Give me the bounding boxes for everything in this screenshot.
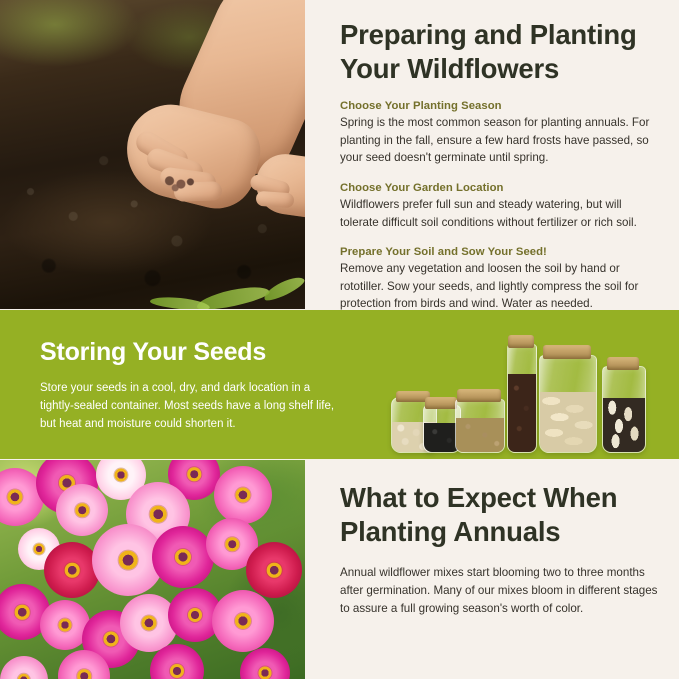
storing-text-column: Storing Your Seeds Store your seeds in a… — [40, 338, 336, 433]
expect-text-column: What to Expect When Planting Annuals Ann… — [340, 481, 662, 618]
seed-jar-tall-dark-seeds — [507, 335, 535, 453]
body-planting-season: Spring is the most common season for pla… — [340, 114, 658, 167]
jar-contents — [603, 398, 645, 452]
planting-block-location: Choose Your Garden Location Wildflowers … — [340, 182, 658, 231]
planting-heading: Preparing and Planting Your Wildflowers — [340, 18, 658, 85]
planting-block-soil: Prepare Your Soil and Sow Your Seed! Rem… — [340, 246, 658, 313]
planting-text-column: Preparing and Planting Your Wildflowers … — [340, 18, 658, 313]
jar-glass — [539, 355, 597, 453]
seed-jars-photo — [385, 316, 670, 459]
jar-contents — [540, 392, 596, 452]
cork-stopper — [425, 397, 457, 409]
cork-stopper — [508, 335, 534, 348]
jar-glass — [602, 366, 646, 453]
hands-planting-seeds-photo — [0, 0, 305, 309]
seed-jar-sunflower-seeds — [602, 357, 644, 453]
expect-heading: What to Expect When Planting Annuals — [340, 481, 662, 548]
seed-jar-pumpkin-seeds — [539, 345, 595, 453]
storing-seeds-band: Storing Your Seeds Store your seeds in a… — [0, 310, 679, 459]
storing-body: Store your seeds in a cool, dry, and dar… — [40, 380, 336, 433]
jar-contents — [508, 374, 536, 452]
subhead-garden-location: Choose Your Garden Location — [340, 182, 658, 194]
cork-stopper — [607, 357, 639, 370]
subhead-prepare-soil: Prepare Your Soil and Sow Your Seed! — [340, 246, 658, 258]
flower-bloom — [56, 484, 108, 536]
infographic-page: Preparing and Planting Your Wildflowers … — [0, 0, 679, 679]
expect-body: Annual wildflower mixes start blooming t… — [340, 564, 662, 618]
jar-glass — [507, 344, 537, 453]
pink-zinnia-flowers-photo — [0, 460, 305, 679]
jar-contents — [456, 418, 504, 452]
cork-stopper — [543, 345, 591, 359]
flower-bloom — [214, 466, 272, 524]
cork-stopper — [457, 389, 501, 402]
storing-heading: Storing Your Seeds — [40, 338, 336, 367]
seeds-in-palm — [160, 172, 198, 194]
jar-glass — [455, 399, 505, 453]
body-prepare-soil: Remove any vegetation and loosen the soi… — [340, 260, 658, 313]
body-garden-location: Wildflowers prefer full sun and steady w… — [340, 196, 658, 231]
flower-bloom — [152, 526, 214, 588]
subhead-planting-season: Choose Your Planting Season — [340, 100, 658, 112]
seed-jar-sand-seeds — [455, 389, 503, 453]
flower-bloom — [212, 590, 274, 652]
flower-bloom — [246, 542, 302, 598]
seed-jar-black-seeds — [423, 397, 459, 453]
finger — [256, 191, 295, 209]
planting-block-season: Choose Your Planting Season Spring is th… — [340, 100, 658, 167]
flower-bloom — [44, 542, 100, 598]
